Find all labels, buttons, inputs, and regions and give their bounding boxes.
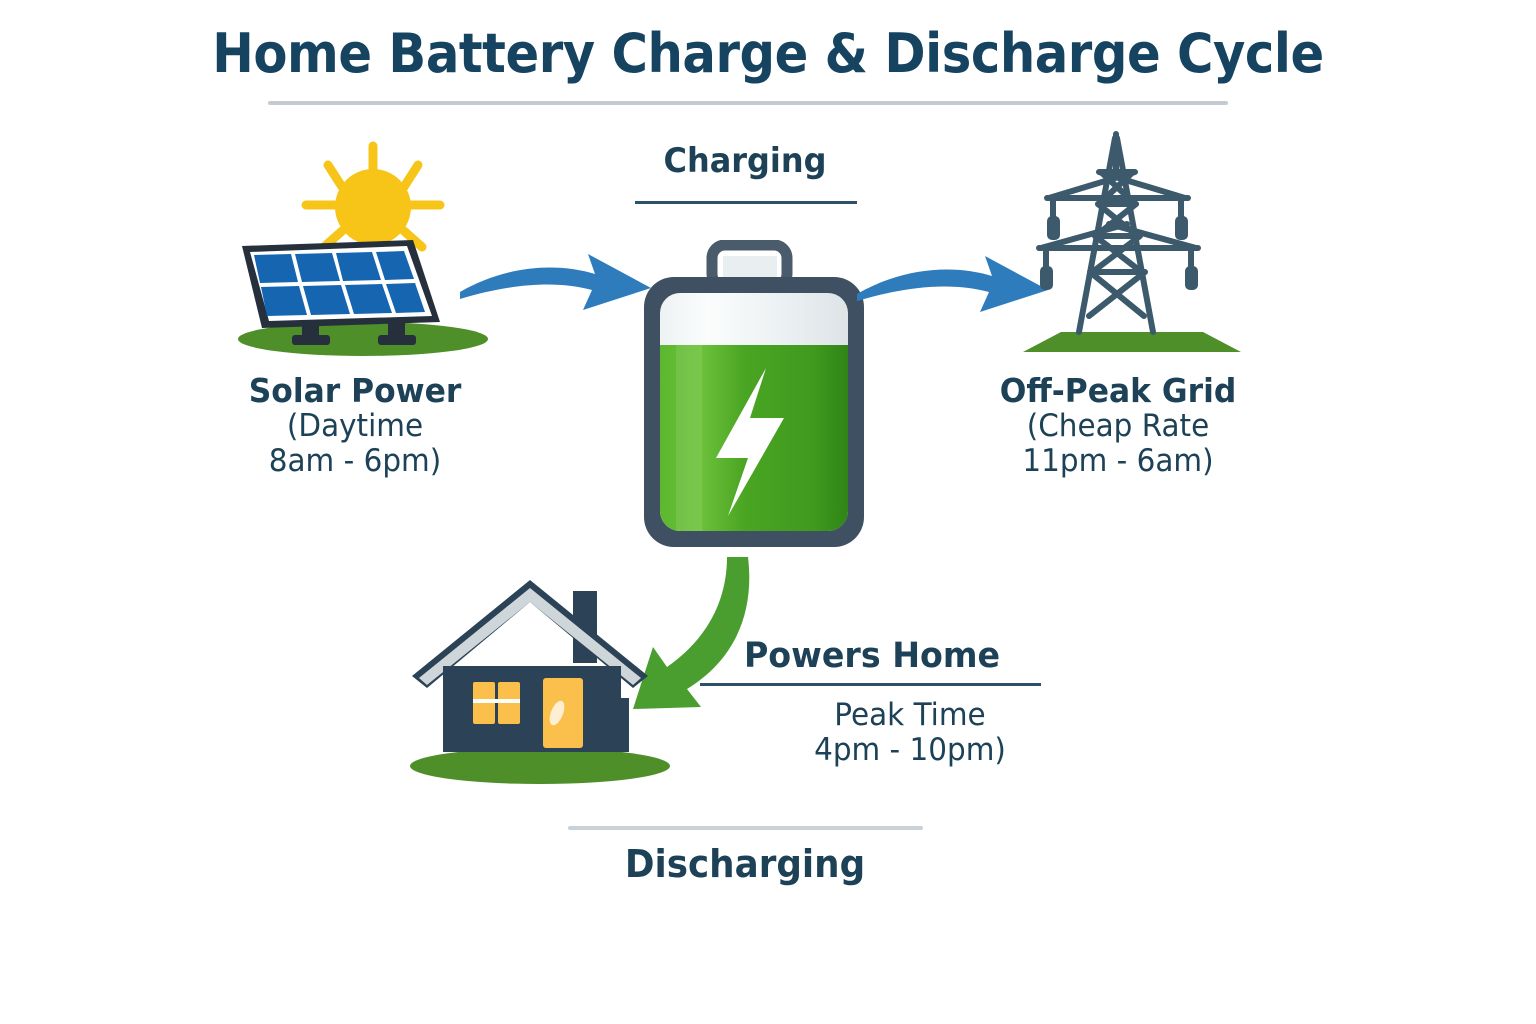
sun-icon	[335, 169, 411, 245]
discharging-divider	[568, 826, 923, 830]
solar-caption-head: Solar Power	[175, 372, 536, 409]
solar-caption-sub2: 8am - 6pm)	[175, 444, 536, 479]
house-icon	[405, 558, 675, 790]
page-title: Home Battery Charge & Discharge Cycle	[61, 22, 1474, 85]
charging-underline	[635, 201, 857, 204]
transmission-tower-icon	[1013, 120, 1248, 360]
grid-caption: Off-Peak Grid (Cheap Rate 11pm - 6am)	[928, 372, 1308, 479]
peak-time-sub1: Peak Time	[730, 698, 1091, 733]
solar-caption-sub1: (Daytime	[175, 409, 536, 444]
charging-label: Charging	[604, 141, 886, 181]
discharging-label: Discharging	[557, 842, 933, 886]
powers-home-head: Powers Home	[709, 636, 1036, 676]
powers-home-underline	[700, 683, 1041, 686]
title-divider	[268, 101, 1228, 105]
infographic-canvas: Home Battery Charge & Discharge Cycle Ch…	[0, 0, 1536, 1024]
peak-time-caption: Peak Time 4pm - 10pm)	[720, 698, 1100, 768]
solar-caption: Solar Power (Daytime 8am - 6pm)	[165, 372, 545, 479]
grid-caption-sub2: 11pm - 6am)	[938, 444, 1299, 479]
battery-icon	[620, 240, 890, 560]
peak-time-sub2: 4pm - 10pm)	[730, 733, 1091, 768]
grid-caption-sub1: (Cheap Rate	[938, 409, 1299, 444]
grid-caption-head: Off-Peak Grid	[938, 372, 1299, 409]
